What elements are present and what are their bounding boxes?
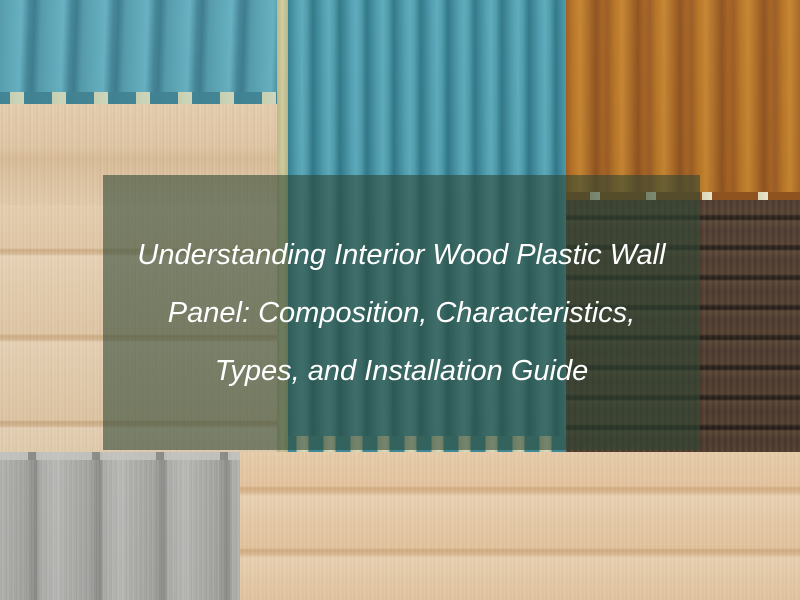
banner-image: Understanding Interior Wood Plastic Wall… <box>0 0 800 600</box>
banner-title-line-3: Types, and Installation Guide <box>137 342 665 400</box>
banner-title: Understanding Interior Wood Plastic Wall… <box>137 226 665 400</box>
title-overlay-panel: Understanding Interior Wood Plastic Wall… <box>103 175 700 450</box>
top-left-teal-fluted-panel <box>0 0 300 104</box>
bottom-left-grey-fluted-panel <box>0 452 240 600</box>
bottom-beech-planks-panel <box>200 452 800 600</box>
banner-title-line-1: Understanding Interior Wood Plastic Wall <box>137 226 665 284</box>
banner-title-line-2: Panel: Composition, Characteristics, <box>137 284 665 342</box>
